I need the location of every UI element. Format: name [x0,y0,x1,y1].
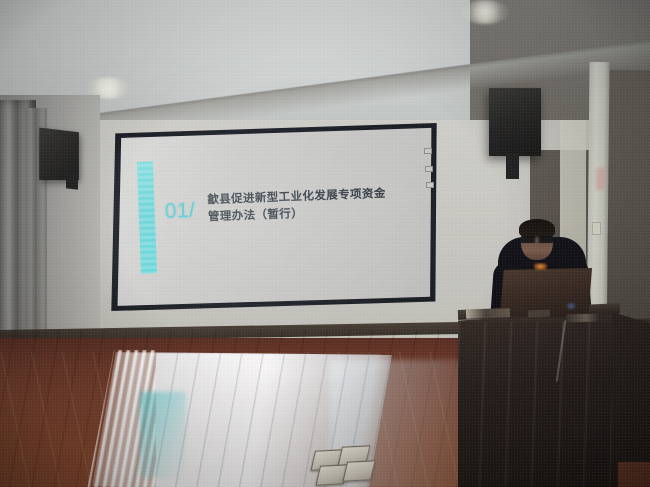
projection-screen: 01/ 歙县促进新型工业化发展专项资金 管理办法（暂行） [108,122,438,312]
speaker-right-mount [506,153,519,179]
slide-title: 歙县促进新型工业化发展专项资金 管理办法（暂行） [207,184,423,226]
desk-blue-light [566,302,576,310]
screen-clip-3 [426,182,434,188]
glasses-icon [520,236,554,243]
speaker-left-mount [66,172,78,189]
slide-accent-bar [137,161,157,274]
screen-clip-1 [424,148,432,154]
speaker-right-icon [489,88,541,156]
slide-content: 01/ 歙县促进新型工业化发展专项资金 管理办法（暂行） [105,116,442,318]
desk-papers [466,308,510,319]
screen-clip-2 [425,166,433,172]
floor-reflection-teal-tint [140,392,186,478]
desk-object-right [566,314,600,323]
laptop-indicator-light [534,263,547,270]
desk-object-secondary [528,310,550,318]
room-photo-scene: 01/ 歙县促进新型工业化发展专项资金 管理办法（暂行） [0,0,650,487]
podium-side-panel [612,312,650,462]
wall-outlet [592,222,601,235]
podium-cloth-folds [458,322,618,487]
slide-number: 01/ [164,199,196,224]
downlight-5-icon [461,0,509,24]
wall-stain-mark [596,168,605,190]
floor-tile-4 [342,460,375,481]
